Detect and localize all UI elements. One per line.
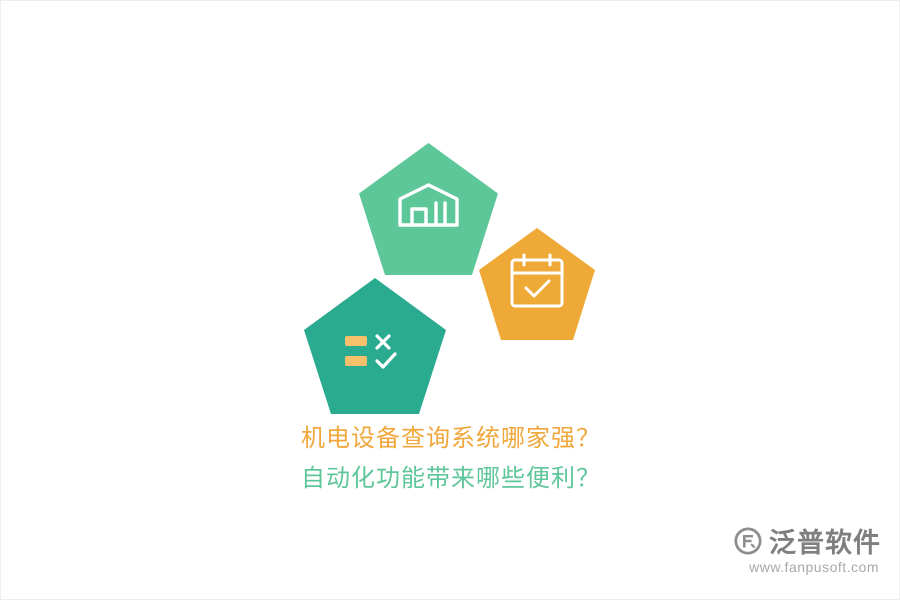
watermark-brand: 泛普软件 (769, 521, 881, 560)
headline-line-2: 自动化功能带来哪些便利？ (1, 459, 900, 499)
headline-line-1: 机电设备查询系统哪家强？ (1, 419, 900, 459)
watermark-url: www.fanpusoft.com (749, 559, 879, 575)
headline: 机电设备查询系统哪家强？ 自动化功能带来哪些便利？ (1, 419, 900, 499)
watermark: 泛普软件 www.fanpusoft.com (691, 521, 881, 581)
pentagon-teal-shape (304, 278, 446, 414)
watermark-row: 泛普软件 (733, 521, 881, 560)
three-pentagon-illustration (301, 141, 591, 391)
pentagon-orange (476, 226, 598, 346)
page-canvas: 机电设备查询系统哪家强？ 自动化功能带来哪些便利？ 泛普软件 www.fanpu… (0, 0, 900, 600)
pentagon-orange-shape (479, 228, 595, 340)
fanpu-logo-icon (733, 526, 763, 556)
pentagon-teal (301, 276, 449, 421)
